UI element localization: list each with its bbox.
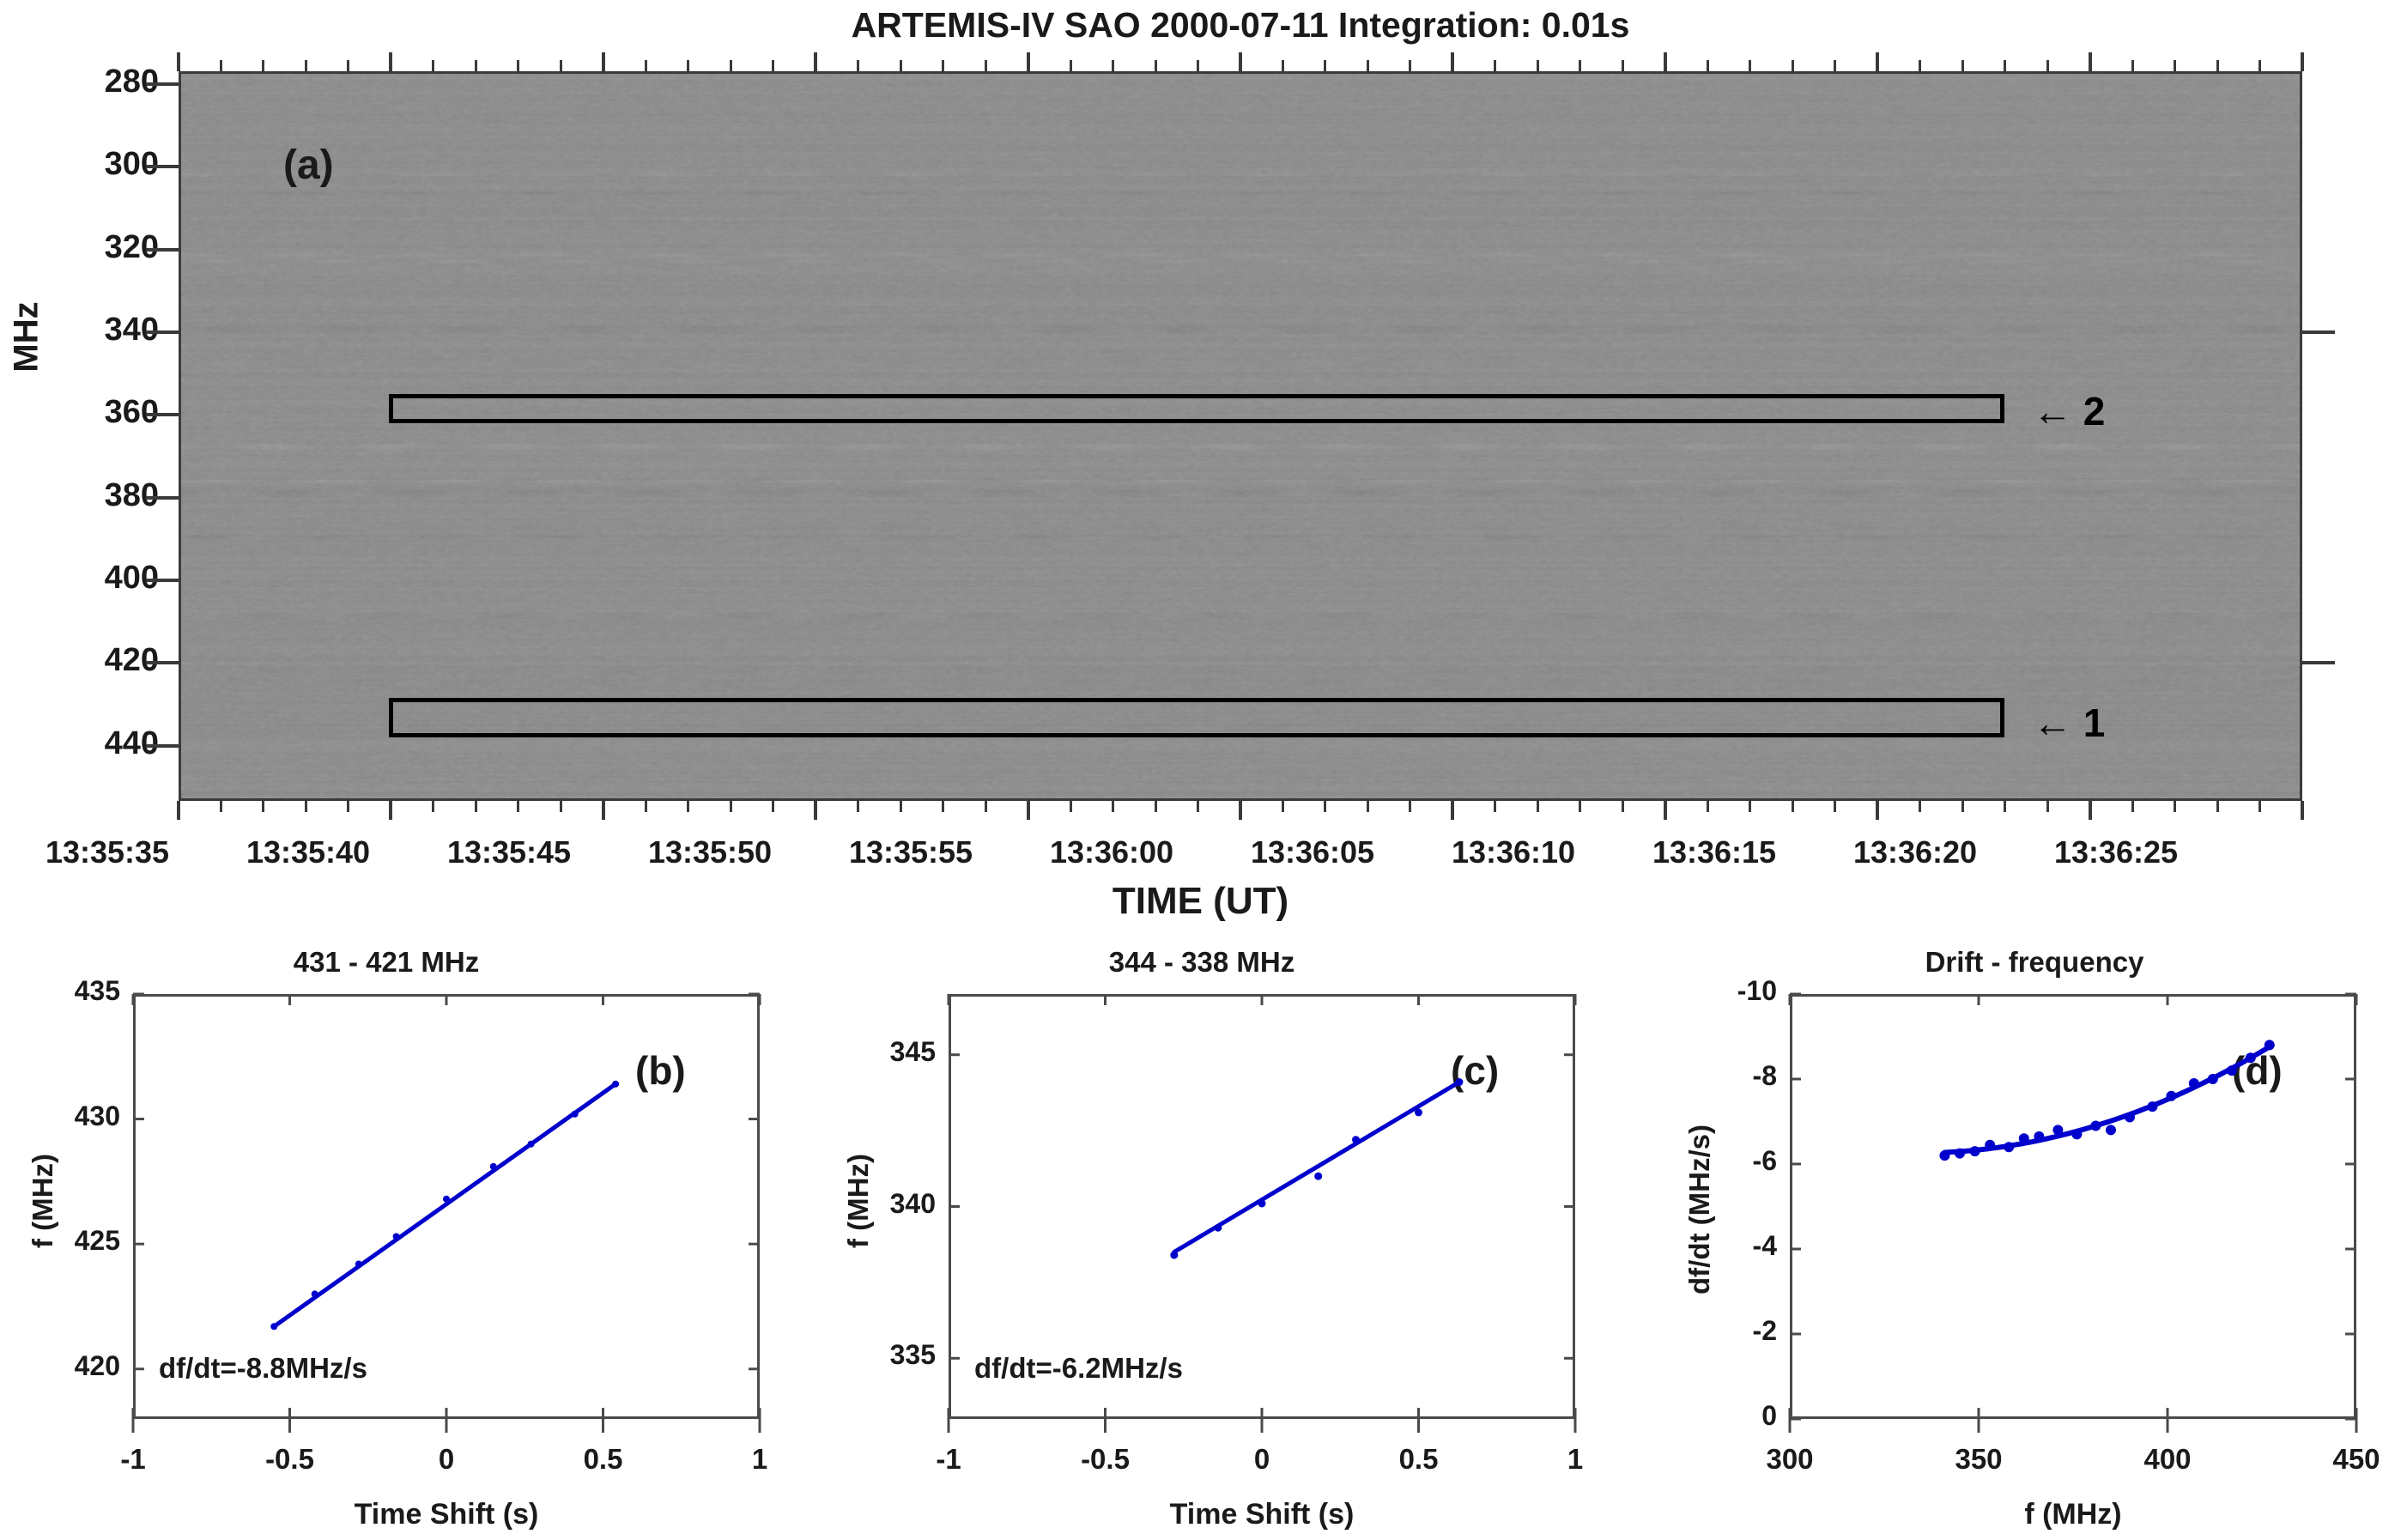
panel-a-xtick-minor	[262, 60, 264, 71]
data-point	[393, 1233, 400, 1240]
panel-a-xtick-minor	[347, 801, 349, 812]
panel-a-xtick-minor	[220, 60, 222, 71]
panel-a-xtick-major	[1876, 801, 1879, 820]
ytick-320: 320	[4, 229, 159, 266]
panel-a-xtick-minor	[730, 60, 732, 71]
data-point	[1455, 1078, 1463, 1086]
panel-a-xtick-minor	[2259, 60, 2261, 71]
panel-d-xtick-0: 300	[1730, 1443, 1850, 1476]
data-point	[2034, 1131, 2044, 1142]
panel-c-ytick-335: 335	[824, 1339, 936, 1371]
data-point	[2208, 1074, 2218, 1084]
data-point	[1970, 1146, 1980, 1156]
panel-a-xtick-minor	[1792, 60, 1794, 71]
panel-a-xtick-minor	[1409, 60, 1411, 71]
panel-a-xtick-major	[602, 801, 605, 820]
panel-a-xtick-minor	[347, 60, 349, 71]
panel-a-xtick-minor	[2004, 60, 2006, 71]
ytickmark-right-340	[2302, 330, 2335, 334]
ytick-400: 400	[4, 560, 159, 597]
panel-a-xtick-minor	[2046, 801, 2049, 812]
panel-d: Drift - frequency (d) df/dt (MHz/s) f (M…	[1631, 936, 2401, 1540]
panel-a-xtick-minor	[220, 801, 222, 812]
panel-a-xtick-minor	[1579, 60, 1581, 71]
panel-a-xtick-minor	[772, 60, 774, 71]
panel-a-xtick-minor	[1749, 60, 1751, 71]
panel-a-xtick-minor	[1409, 801, 1411, 812]
spectrogram-frame	[179, 71, 2302, 801]
data-point	[572, 1111, 579, 1118]
panel-a-xtick-major	[389, 52, 392, 71]
panel-a-xtick-minor	[1707, 60, 1709, 71]
panel-a-xtick-minor	[1155, 60, 1157, 71]
panel-a-xtick-minor	[1622, 801, 1624, 812]
panel-d-ytick--4: -4	[1665, 1230, 1777, 1262]
panel-a-xtick-minor	[1961, 60, 1964, 71]
panel-a-xtick-major	[177, 801, 180, 820]
panel-a-xtick-minor	[1112, 801, 1114, 812]
panel-c-xtick-2: 0	[1202, 1443, 1322, 1476]
panel-c-ytick-345: 345	[824, 1036, 936, 1068]
data-point	[1258, 1199, 1266, 1207]
panel-a-xtick-minor	[942, 60, 944, 71]
panel-a-xtick-minor	[1919, 801, 1921, 812]
panel-c-xtick-0: -1	[888, 1443, 1009, 1476]
panel-a-xtick-minor	[2174, 60, 2176, 71]
ytickmark-360	[146, 413, 179, 416]
panel-a-xtick-minor	[1707, 801, 1709, 812]
panel-a-xtick-major	[1876, 52, 1879, 71]
panel-a-xtick-minor	[1834, 60, 1836, 71]
data-point	[2052, 1125, 2063, 1135]
panel-a-xtick-major	[1027, 52, 1030, 71]
data-point	[2246, 1052, 2256, 1063]
spectrogram-image	[181, 74, 2300, 798]
panel-a-xtick-minor	[730, 801, 732, 812]
panel-a-xtick-minor	[1792, 801, 1794, 812]
panel-b-xtick-3: 0.5	[543, 1443, 664, 1476]
panel-a-xtick-minor	[1197, 60, 1199, 71]
xtick-10: 13:36:25	[1996, 834, 2236, 870]
panel-a-xtick-minor	[475, 60, 477, 71]
panel-d-xtick-3: 450	[2296, 1443, 2401, 1476]
data-point	[443, 1196, 450, 1203]
panel-c-ytick-340: 340	[824, 1188, 936, 1220]
panel-a-xtick-minor	[1494, 801, 1496, 812]
data-point	[528, 1141, 535, 1148]
panel-a-xtick-minor	[432, 801, 434, 812]
data-point	[1170, 1252, 1178, 1259]
panel-d-ytick--6: -6	[1665, 1145, 1777, 1177]
data-point	[2147, 1101, 2157, 1112]
panel-b-ytick-420: 420	[9, 1350, 120, 1382]
data-point	[2265, 1040, 2275, 1050]
panel-a-xtick-major	[1239, 801, 1242, 820]
roi-arrow-2: ← 2	[2033, 388, 2105, 434]
panel-b-ytick-430: 430	[9, 1100, 120, 1132]
panel-a-xtick-minor	[2259, 801, 2261, 812]
panel-a-xtick-minor	[2174, 801, 2176, 812]
data-point	[2090, 1120, 2101, 1131]
panel-a-xtick-minor	[1537, 801, 1539, 812]
panel-a-xtick-major	[2089, 52, 2092, 71]
panel-a-xtick-minor	[1282, 60, 1284, 71]
panel-a-xtick-minor	[1112, 60, 1114, 71]
panel-a-xtick-minor	[985, 801, 987, 812]
panel-a-xtick-minor	[1834, 801, 1836, 812]
panel-a-xtick-major	[2301, 801, 2304, 820]
panel-a-xtick-minor	[645, 801, 647, 812]
data-point	[2166, 1091, 2176, 1101]
panel-a-xtick-minor	[2216, 801, 2219, 812]
data-point	[2071, 1129, 2082, 1139]
ytick-340: 340	[4, 312, 159, 349]
data-point	[1985, 1140, 1995, 1150]
roi-box-2	[389, 394, 2004, 423]
panel-a-xtick-minor	[857, 801, 859, 812]
panel-b-xtick-2: 0	[386, 1443, 506, 1476]
ytickmark-340	[146, 330, 179, 334]
panel-a-xtick-minor	[942, 801, 944, 812]
panel-a-xtick-minor	[305, 60, 307, 71]
panel-a-xtick-minor	[1282, 801, 1284, 812]
panel-a-xtick-minor	[1070, 60, 1072, 71]
data-point	[312, 1290, 318, 1297]
figure-root: ARTEMIS-IV SAO 2000-07-11 Integration: 0…	[0, 0, 2401, 1540]
panel-a-xtick-minor	[1197, 801, 1199, 812]
panel-a-xtick-major	[1664, 52, 1667, 71]
panel-c-xtick-1: -0.5	[1046, 1443, 1166, 1476]
panel-a-xtick-minor	[1070, 801, 1072, 812]
panel-a-xtick-minor	[1324, 60, 1326, 71]
panel-b-xtick-0: -1	[73, 1443, 193, 1476]
panel-a-xtick-major	[1239, 52, 1242, 71]
panel-a-xtick-minor	[1919, 60, 1921, 71]
panel-a-xtick-minor	[1155, 801, 1157, 812]
panel-a-xlabel: TIME (UT)	[0, 880, 2401, 923]
panel-a-xtick-major	[177, 52, 180, 71]
panel-b-ytick-425: 425	[9, 1225, 120, 1257]
panel-a-xtick-minor	[1494, 60, 1496, 71]
panel-a-xtick-minor	[2131, 801, 2134, 812]
data-point	[270, 1323, 277, 1330]
panel-a-xtick-minor	[1622, 60, 1624, 71]
ytickmark-440	[146, 744, 179, 748]
ytickmark-right-420	[2302, 661, 2335, 664]
ytick-360: 360	[4, 394, 159, 431]
panel-a-xtick-minor	[560, 60, 562, 71]
panel-a-dynamic-spectrum	[179, 71, 2302, 801]
panel-a-xtick-minor	[1324, 801, 1326, 812]
panel-d-ytick--2: -2	[1665, 1315, 1777, 1347]
ytickmark-280	[146, 82, 179, 86]
panel-a-xtick-minor	[857, 60, 859, 71]
panel-d-ytick--8: -8	[1665, 1060, 1777, 1092]
panel-b-xtick-4: 1	[700, 1443, 820, 1476]
panel-b-ytick-435: 435	[9, 975, 120, 1007]
data-point	[1955, 1149, 1965, 1159]
panel-a-xtick-minor	[475, 801, 477, 812]
panel-a-xtick-minor	[1961, 801, 1964, 812]
panel-a-xtick-minor	[1367, 60, 1369, 71]
roi-arrow-1: ← 1	[2033, 700, 2105, 746]
panel-a-xtick-minor	[1537, 60, 1539, 71]
panel-a-xtick-minor	[1579, 801, 1581, 812]
panel-a-xtick-minor	[2046, 60, 2049, 71]
data-point	[1939, 1150, 1949, 1161]
data-point	[490, 1163, 497, 1170]
panel-d-ytick--10: -10	[1665, 975, 1777, 1007]
panel-a-xtick-minor	[432, 60, 434, 71]
panel-a-xtick-minor	[645, 60, 647, 71]
panel-a-xtick-minor	[900, 801, 902, 812]
panel-d-xtick-2: 400	[2107, 1443, 2228, 1476]
data-point	[2227, 1065, 2237, 1076]
panel-a-xtick-major	[1664, 801, 1667, 820]
ytick-440: 440	[4, 725, 159, 762]
panel-a-xtick-minor	[2216, 60, 2219, 71]
data-point	[2019, 1133, 2029, 1143]
ytickmark-300	[146, 165, 179, 168]
ytickmark-380	[146, 496, 179, 500]
panel-a-xtick-major	[602, 52, 605, 71]
ytick-280: 280	[4, 64, 159, 100]
data-point	[1214, 1224, 1222, 1232]
panel-a-xtick-minor	[772, 801, 774, 812]
panel-a-xtick-major	[1451, 52, 1454, 71]
panel-a-xtick-minor	[517, 801, 519, 812]
panel-b-xtick-1: -0.5	[230, 1443, 350, 1476]
data-point	[2106, 1125, 2116, 1135]
panel-a-xtick-minor	[560, 801, 562, 812]
panel-c: 344 - 338 MHz (c) f (MHz) Time Shift (s)…	[815, 936, 1588, 1540]
ytick-420: 420	[4, 642, 159, 679]
panel-b: 431 - 421 MHz (b) f (MHz) Time Shift (s)…	[0, 936, 773, 1540]
panel-a-letter: (a)	[283, 142, 334, 189]
panel-a-xtick-minor	[262, 801, 264, 812]
panel-a-xtick-minor	[2004, 801, 2006, 812]
panel-a-xtick-minor	[900, 60, 902, 71]
panel-a-xtick-minor	[1749, 801, 1751, 812]
ytickmark-320	[146, 248, 179, 252]
ytickmark-400	[146, 579, 179, 582]
panel-a-xtick-minor	[687, 60, 689, 71]
panel-a-xtick-minor	[1367, 801, 1369, 812]
panel-a-xtick-minor	[985, 60, 987, 71]
data-point	[1314, 1173, 1322, 1180]
panel-a-xtick-major	[814, 801, 817, 820]
panel-a-xtick-minor	[305, 801, 307, 812]
data-point	[612, 1081, 619, 1088]
data-point	[1352, 1136, 1360, 1143]
data-point	[1415, 1108, 1422, 1116]
panel-a-xtick-major	[1027, 801, 1030, 820]
data-point	[355, 1260, 362, 1267]
panel-c-xtick-3: 0.5	[1359, 1443, 1479, 1476]
panel-a-xtick-major	[2089, 801, 2092, 820]
panel-a-xtick-major	[2301, 52, 2304, 71]
panel-d-ytick-0: 0	[1665, 1400, 1777, 1432]
data-point	[2004, 1142, 2014, 1152]
panel-a-xtick-minor	[517, 60, 519, 71]
ytickmark-420	[146, 661, 179, 664]
panel-a-xtick-minor	[687, 801, 689, 812]
panel-a-xtick-major	[814, 52, 817, 71]
panel-c-xtick-4: 1	[1515, 1443, 1635, 1476]
ytick-380: 380	[4, 477, 159, 514]
panel-a-xtick-major	[1451, 801, 1454, 820]
ytick-300: 300	[4, 146, 159, 183]
panel-a-xtick-minor	[2131, 60, 2134, 71]
data-point	[2189, 1078, 2199, 1088]
roi-box-1	[389, 698, 2004, 737]
data-point	[2125, 1113, 2135, 1123]
panel-a-xtick-major	[389, 801, 392, 820]
figure-title: ARTEMIS-IV SAO 2000-07-11 Integration: 0…	[179, 5, 2302, 45]
panel-d-xtick-1: 350	[1919, 1443, 2039, 1476]
